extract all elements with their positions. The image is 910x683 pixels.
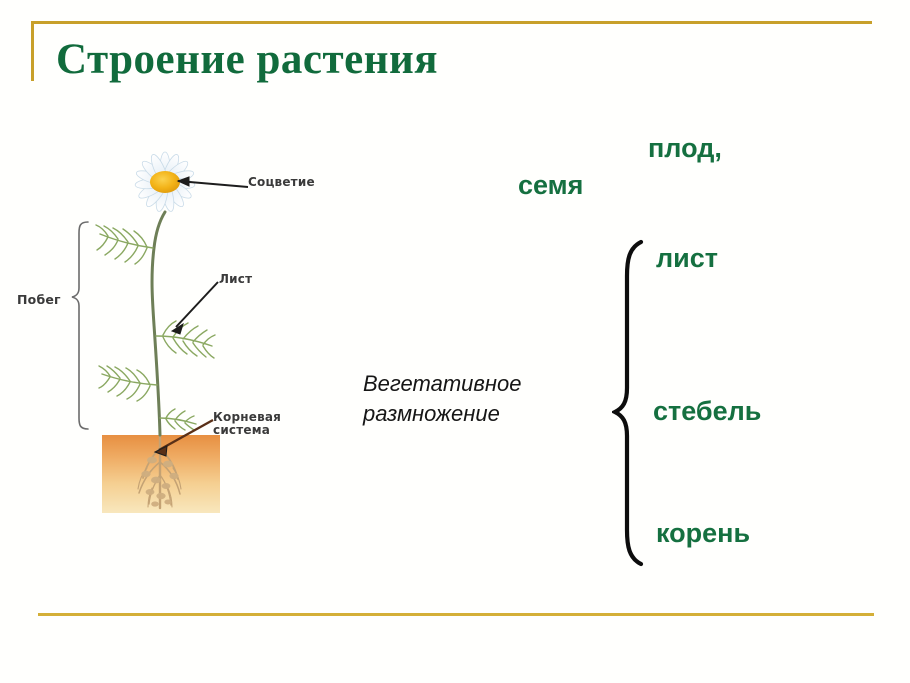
plant-anatomy-illustration	[0, 130, 350, 530]
slide-canvas: Строение растения	[0, 0, 910, 683]
term-leaf: лист	[656, 243, 718, 274]
organs-brace	[612, 238, 652, 568]
top-gold-rule	[31, 21, 872, 24]
top-gold-rule-left-cap	[31, 21, 34, 81]
term-fruit: плод,	[648, 133, 722, 164]
term-stem: стебель	[653, 396, 761, 427]
stem-drawing	[152, 212, 165, 435]
label-inflorescence: Соцветие	[248, 176, 315, 189]
label-root-system: Корневая система	[213, 411, 281, 437]
label-shoot: Побег	[17, 293, 61, 306]
shoot-bracket	[72, 222, 88, 429]
label-leaf: Лист	[219, 273, 252, 286]
bottom-gold-rule	[38, 613, 874, 616]
term-seed: семя	[518, 170, 583, 201]
term-root: корень	[656, 518, 750, 549]
caption-vegetative-reproduction: Вегетативное размножение	[363, 369, 521, 429]
page-title: Строение растения	[56, 35, 438, 84]
